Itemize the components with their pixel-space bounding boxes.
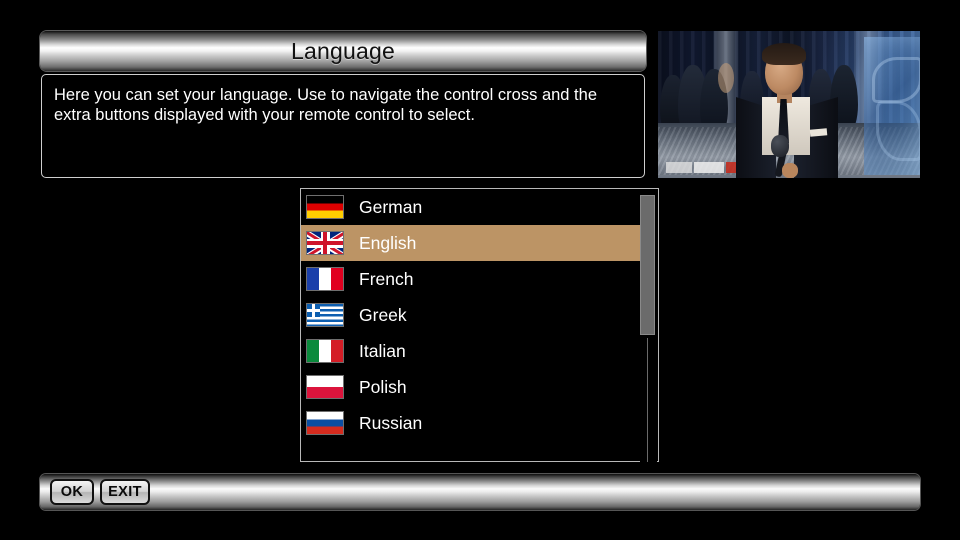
ok-button[interactable]: OK	[50, 479, 94, 505]
list-item[interactable]: Russian	[301, 405, 641, 441]
preview-reporter-hand	[782, 163, 798, 178]
flag-icon-greece	[306, 303, 344, 327]
language-label: Greek	[359, 305, 407, 326]
page-title: Language	[291, 38, 395, 65]
language-label: English	[359, 233, 416, 254]
language-label: French	[359, 269, 413, 290]
exit-button[interactable]: EXIT	[100, 479, 150, 505]
scrollbar-rail	[647, 338, 648, 462]
preview-crowd-figure	[718, 63, 734, 93]
channel-logo-part	[694, 162, 724, 173]
language-list: German English French Greek	[301, 189, 641, 441]
tv-settings-screen: Language Here you can set your language.…	[0, 0, 960, 540]
help-description-text: Here you can set your language. Use to n…	[54, 85, 632, 125]
flag-icon-germany	[306, 195, 344, 219]
window-title-bar: Language	[40, 31, 646, 71]
help-description-panel: Here you can set your language. Use to n…	[41, 74, 645, 178]
preview-microphone-head	[771, 135, 789, 157]
flag-icon-russia	[306, 411, 344, 435]
flag-icon-france	[306, 267, 344, 291]
list-item[interactable]: French	[301, 261, 641, 297]
language-label: Italian	[359, 341, 406, 362]
flag-icon-italy	[306, 339, 344, 363]
language-label: Polish	[359, 377, 407, 398]
language-label: Russian	[359, 413, 422, 434]
bottom-action-bar: OK EXIT	[40, 474, 920, 510]
list-item-selected[interactable]: English	[301, 225, 642, 261]
live-tv-preview[interactable]	[658, 31, 920, 178]
channel-logo-bug	[666, 161, 754, 174]
list-item[interactable]: Italian	[301, 333, 641, 369]
flag-icon-poland	[306, 375, 344, 399]
language-list-panel[interactable]: German English French Greek	[300, 188, 659, 462]
language-label: German	[359, 197, 422, 218]
list-item[interactable]: Polish	[301, 369, 641, 405]
preview-reporter-hair	[762, 43, 806, 65]
scrollbar-thumb[interactable]	[640, 195, 655, 335]
preview-reporter-pocket-square	[810, 128, 828, 136]
preview-sculpture-swirl	[872, 57, 920, 103]
list-item[interactable]: German	[301, 189, 641, 225]
scrollbar-track[interactable]	[640, 190, 657, 462]
flag-icon-united-kingdom	[306, 231, 344, 255]
list-item[interactable]: Greek	[301, 297, 641, 333]
channel-logo-part	[666, 162, 692, 173]
channel-logo-accent	[726, 162, 736, 173]
